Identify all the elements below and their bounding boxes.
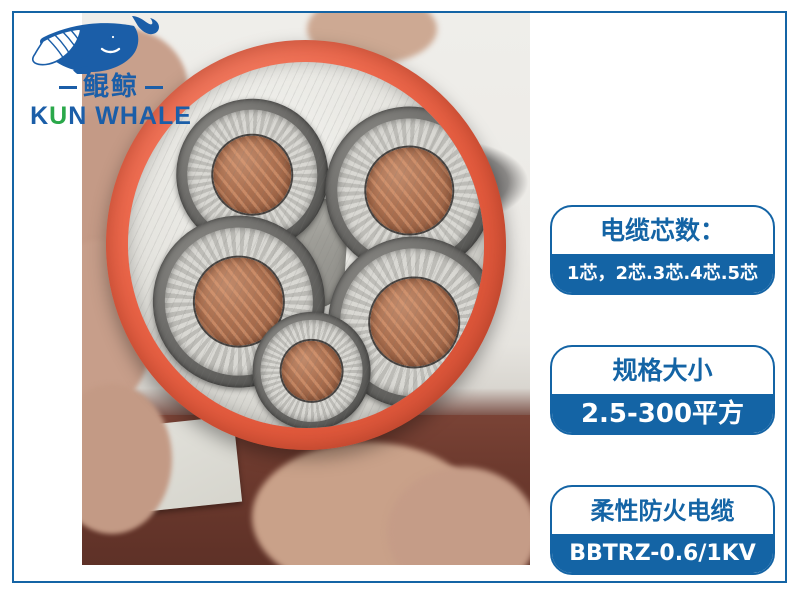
spec-box-cable-core-count: 电缆芯数： 1芯，2芯.3芯.4芯.5芯 [550,205,775,295]
spec-title: 柔性防火电缆 [552,487,773,534]
spec-box-list: 电缆芯数： 1芯，2芯.3芯.4芯.5芯 规格大小 2.5-300平方 柔性防火… [550,0,775,600]
whale-icon [16,12,206,74]
copper-core [368,276,461,369]
copper-core [192,255,285,348]
center-filler [250,195,349,311]
dash-left [59,86,77,89]
spec-value: BBTRZ-0.6/1KV [552,534,773,573]
metal-sheath [336,245,491,400]
brand-name-en-part1: K [30,102,49,130]
brand-name-cn-text: 鲲鲸 [83,72,139,102]
brand-name-en: KUN WHALE [16,104,206,129]
spec-value: 2.5-300平方 [552,394,773,433]
dash-right [145,86,163,89]
conductor-2 [321,102,493,279]
copper-core [364,145,455,236]
spec-box-specification-size: 规格大小 2.5-300平方 [550,345,775,435]
spec-value: 1芯，2芯.3芯.4芯.5芯 [552,254,773,293]
metal-sheath [161,224,316,379]
copper-core [280,339,344,403]
copper-core [211,133,293,215]
brand-name-cn: 鲲鲸 [16,74,206,100]
conductor-3 [148,211,329,392]
spec-title: 电缆芯数： [552,207,773,254]
conductor-5-neutral [250,309,374,433]
spec-box-product-type: 柔性防火电缆 BBTRZ-0.6/1KV [550,485,775,575]
brand-logo: 鲲鲸 KUN WHALE [16,12,206,130]
product-banner: 鲲鲸 KUN WHALE 电缆芯数： 1芯，2芯.3芯.4芯.5芯 规格大小 2… [0,0,800,600]
spec-title: 规格大小 [552,347,773,394]
brand-name-en-part2: N WHALE [68,102,192,130]
brand-name-en-u: U [49,102,68,130]
metal-sheath [333,115,485,267]
conductor-4 [324,232,494,413]
metal-sheath [258,318,365,425]
